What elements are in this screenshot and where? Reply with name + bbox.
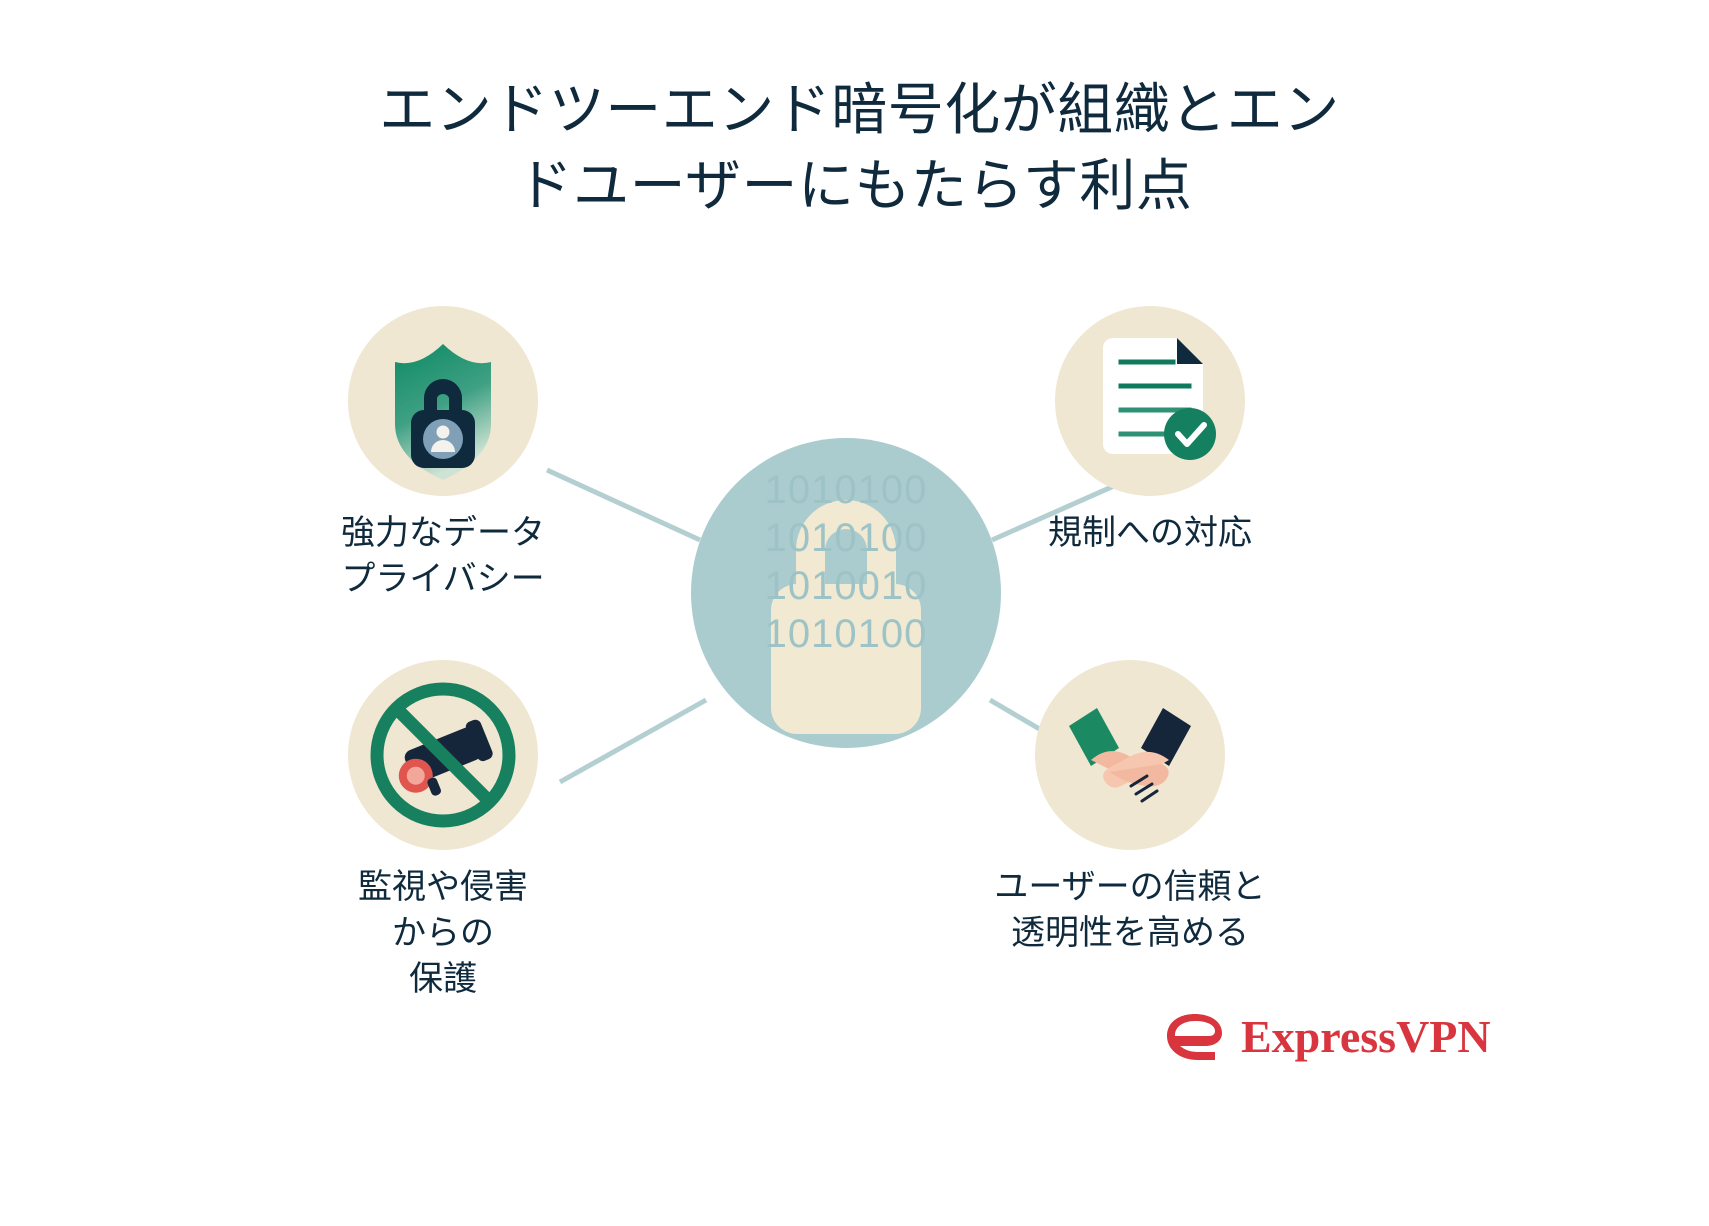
- node-compliance-circle: [1055, 306, 1245, 496]
- node-trust-label: ユーザーの信頼と 透明性を高める: [980, 864, 1280, 956]
- hub-encryption-circle: 1010100 1010100 1010010 1010100: [691, 438, 1001, 748]
- expressvpn-e-logo: [1165, 1008, 1227, 1066]
- node-compliance[interactable]: 規制への対応: [1000, 306, 1300, 556]
- handshake-icon: [1035, 660, 1225, 850]
- node-privacy[interactable]: 強力なデータ プライバシー: [293, 306, 593, 602]
- node-protection[interactable]: 監視や侵害 からの 保護: [293, 660, 593, 1002]
- expressvpn-logo[interactable]: ExpressVPN: [1165, 1008, 1491, 1066]
- node-compliance-label: 規制への対応: [1000, 510, 1300, 556]
- node-trust-circle: [1035, 660, 1225, 850]
- shield-lock-icon: [348, 306, 538, 496]
- node-protection-label: 監視や侵害 からの 保護: [293, 864, 593, 1002]
- node-trust[interactable]: ユーザーの信頼と 透明性を高める: [980, 660, 1280, 956]
- document-check-icon: [1055, 306, 1245, 496]
- no-surveillance-camera-icon: [348, 660, 538, 850]
- node-privacy-label: 強力なデータ プライバシー: [293, 510, 593, 602]
- padlock-binary-icon: [691, 438, 1001, 748]
- node-privacy-circle: [348, 306, 538, 496]
- node-protection-circle: [348, 660, 538, 850]
- expressvpn-wordmark: ExpressVPN: [1241, 1014, 1491, 1060]
